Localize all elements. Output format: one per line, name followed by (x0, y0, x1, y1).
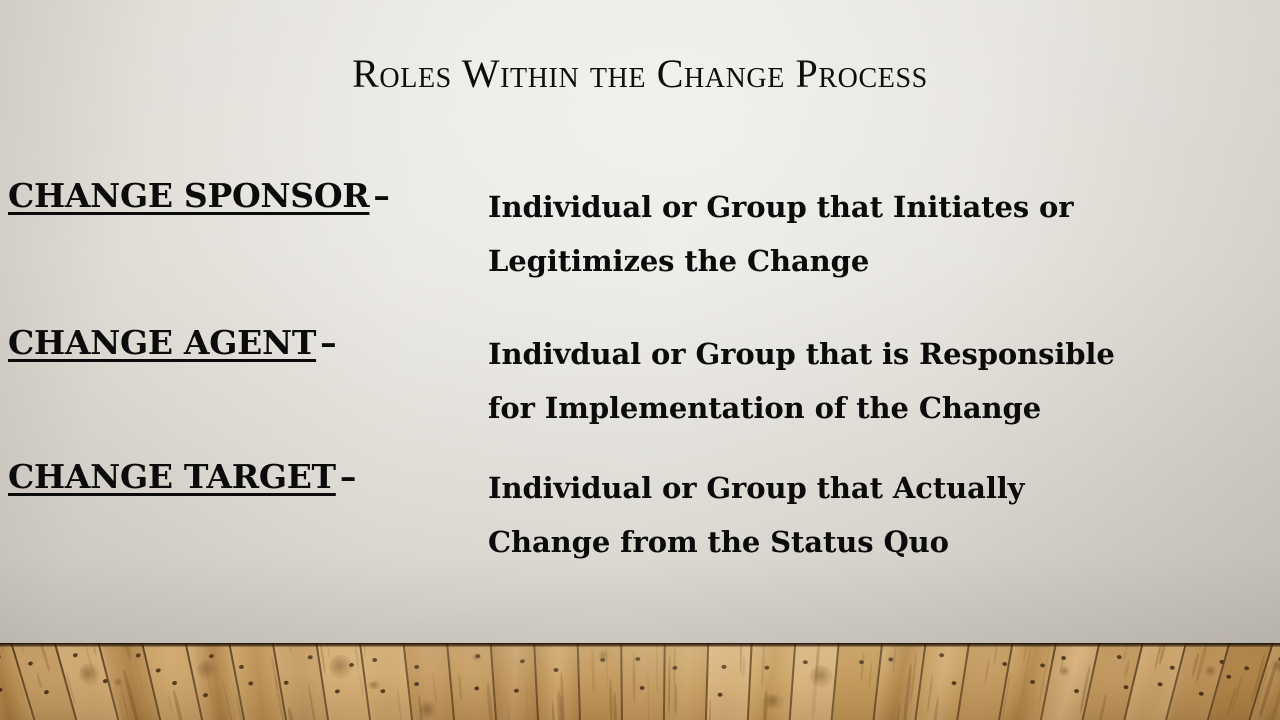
description-line-2: Legitimizes the Change (488, 234, 1228, 288)
role-label-change-agent: CHANGE AGENT– (8, 323, 336, 362)
role-label-change-sponsor: CHANGE SPONSOR– (8, 176, 390, 215)
description-line-1: Individual or Group that Actually (488, 471, 1024, 505)
description-line-2: for Implementation of the Change (488, 381, 1258, 435)
role-term: CHANGE SPONSOR (8, 176, 369, 215)
role-term: CHANGE TARGET (8, 457, 336, 496)
role-label-change-target: CHANGE TARGET– (8, 457, 356, 496)
role-dash: – (316, 323, 336, 362)
role-description-change-agent: Indivdual or Group that is Responsible f… (488, 327, 1258, 435)
description-line-1: Individual or Group that Initiates or (488, 190, 1073, 224)
floor-wall-junction-line (0, 643, 1280, 647)
wooden-floor (0, 643, 1280, 720)
description-line-1: Indivdual or Group that is Responsible (488, 337, 1115, 371)
description-line-2: Change from the Status Quo (488, 515, 1188, 569)
floor-shading-overlay (0, 643, 1280, 720)
presentation-slide: Roles Within the Change Process CHANGE S… (0, 0, 1280, 720)
role-dash: – (369, 176, 389, 215)
role-description-change-sponsor: Individual or Group that Initiates or Le… (488, 180, 1228, 288)
page-title: Roles Within the Change Process (0, 50, 1280, 97)
role-description-change-target: Individual or Group that Actually Change… (488, 461, 1188, 569)
role-dash: – (336, 457, 356, 496)
role-term: CHANGE AGENT (8, 323, 316, 362)
